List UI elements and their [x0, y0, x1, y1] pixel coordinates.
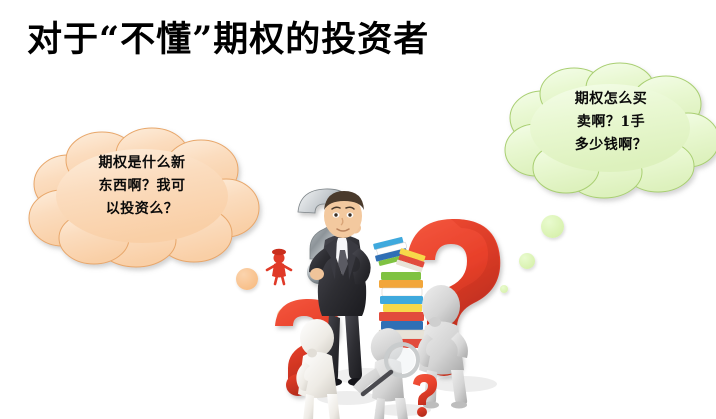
speech-bubble-left: 期权是什么新 东西啊？我可 以投资么？ [18, 126, 266, 266]
slide-canvas: 对于“不懂”期权的投资者 [0, 0, 716, 419]
speech-bubble-right-text: 期权怎么买 卖啊？1手 多少钱啊？ [528, 88, 694, 157]
white-thinking-figure-left [296, 319, 340, 419]
dot-green-large [541, 215, 564, 238]
tiny-red-figure [267, 249, 291, 284]
question-marks-people-illustration [255, 186, 523, 419]
page-title: 对于“不懂”期权的投资者 [27, 17, 429, 63]
speech-bubble-left-text: 期权是什么新 东西啊？我可 以投资么？ [50, 152, 234, 221]
speech-bubble-right: 期权怎么买 卖啊？1手 多少钱啊？ [498, 62, 716, 198]
